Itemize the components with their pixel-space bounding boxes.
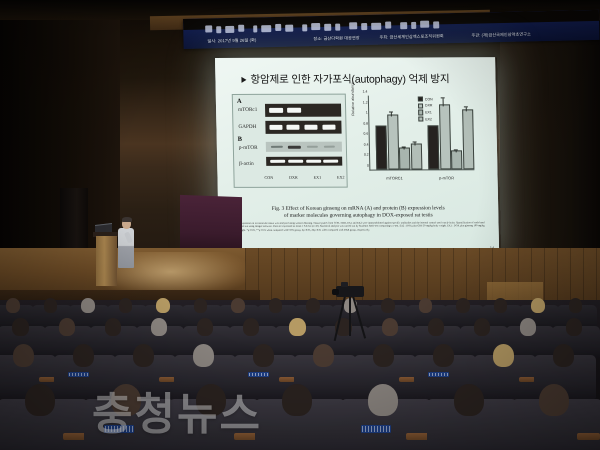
legend-label: DXR [425, 104, 432, 108]
audience-head [13, 344, 34, 367]
audience-head [474, 318, 490, 336]
seat-armrest [39, 377, 55, 381]
seat-armrest [63, 433, 86, 440]
chart-legend-item: EX1 [418, 110, 433, 115]
slide-heading: 항암제로 인한 자가포식(autophagy) 억제 방지 [241, 71, 481, 87]
video-camera-body [336, 286, 364, 297]
audience-head [306, 298, 320, 313]
caption-fine-print: Protein expression in rat testicular tis… [232, 221, 484, 231]
audience-head [105, 318, 121, 336]
legend-swatch [418, 117, 424, 122]
chart-legend-item: CON [418, 96, 433, 101]
audience-head [419, 298, 433, 313]
audience-head [6, 298, 20, 313]
audience-head [381, 298, 395, 313]
legend-swatch [418, 96, 424, 101]
audience-head [368, 384, 398, 416]
audience-head [433, 344, 454, 367]
chart-y-tick: 1.2 [363, 100, 369, 104]
bar-chart: Relative abundance 00.20.40.60.811.21.4m… [352, 91, 484, 191]
legend-swatch [418, 110, 424, 115]
audience-head [569, 298, 583, 313]
figure: A mTORc1 GAPDH B p-mTOR β-actin [232, 91, 484, 202]
audience-head [456, 298, 470, 313]
audience-head [428, 318, 444, 336]
seat-armrest [577, 433, 600, 440]
video-camera-lens [332, 289, 339, 295]
chart-bar-group [375, 95, 420, 169]
audience-head [133, 344, 154, 367]
chart-y-tick: 0.8 [363, 121, 369, 125]
audience-head [194, 298, 208, 313]
gel-panel-a-label: A [237, 98, 242, 105]
banner-host: 주최: 금산세계인삼엑스포조직위원회 [379, 33, 443, 40]
bullet-triangle-icon [241, 76, 246, 82]
audience-head [269, 298, 283, 313]
banner-organizer: 주관: (재)금산국제인삼약초연구소 [471, 31, 531, 38]
audience-head [231, 298, 245, 313]
audience-head [313, 344, 334, 367]
projection-screen: 항암제로 인한 자가포식(autophagy) 억제 방지 A mTORc1 G… [215, 57, 499, 254]
lane-label-con: CON [264, 175, 273, 180]
audience-head [454, 384, 484, 416]
lane-label-ex2: EX2 [337, 175, 345, 180]
news-watermark: 충청뉴스 [92, 378, 262, 442]
chart-y-tick: 0 [367, 164, 370, 168]
seat-number-tag [248, 372, 269, 377]
audience-head [59, 318, 75, 336]
podium [96, 236, 117, 286]
audience-head [193, 344, 214, 367]
audience-seating [0, 300, 600, 450]
audience-head [25, 384, 55, 416]
chart-legend: CONDXREX1EX2 [418, 96, 433, 123]
legend-swatch [418, 103, 424, 108]
auditorium-photo: 일시: 2017년 9월 26일 (화) 장소: 금산다락원 대공연장 주최: … [0, 0, 600, 450]
chart-y-tick: 0.2 [364, 153, 370, 157]
chart-bar-group [427, 95, 472, 169]
gel-blot-panel: A mTORc1 GAPDH B p-mTOR β-actin [232, 94, 348, 188]
chart-y-tick: 1.4 [363, 90, 369, 94]
audience-head [493, 344, 514, 367]
chart-legend-item: EX2 [418, 116, 433, 121]
tripod-leg-center [349, 296, 351, 336]
audience-head [539, 384, 569, 416]
seat-armrest [519, 377, 535, 381]
seat-number-tag [68, 372, 89, 377]
blot-pmtor [266, 142, 342, 152]
audience-head [553, 344, 574, 367]
audience-head [373, 344, 394, 367]
gel-row-pmtor-label: p-mTOR [239, 145, 258, 151]
banner-venue: 장소: 금산다락원 대공연장 [313, 35, 359, 42]
legend-label: EX1 [425, 110, 432, 114]
lane-label-dxr: DXR [289, 175, 298, 180]
audience-head [156, 298, 170, 313]
gel-row-gapdh-label: GAPDH [238, 124, 256, 130]
chart-y-tick: 0.4 [364, 142, 370, 146]
blot-bactin [266, 157, 342, 166]
audience-head [531, 298, 545, 313]
audience-head [119, 298, 133, 313]
chart-y-tick: 0.6 [363, 132, 369, 136]
audience-head [12, 318, 28, 336]
chart-y-tick: 1 [366, 111, 369, 115]
caption-line-2: of marker molecules governing autophagy … [232, 212, 484, 220]
audience-head [44, 298, 58, 313]
seat-number-tag [428, 372, 449, 377]
chart-legend-item: DXR [418, 103, 433, 108]
audience-head [282, 384, 312, 416]
audience-head [253, 344, 274, 367]
audience-head [197, 318, 213, 336]
audience-head [520, 318, 536, 336]
chart-x-tick-label: p-mTOR [419, 175, 475, 180]
gel-row-bactin-label: β-actin [239, 161, 254, 167]
gel-row-mtorc1-label: mTORc1 [238, 107, 257, 113]
chart-x-tick-label: mTORC1 [366, 175, 422, 180]
video-camera-handle [341, 282, 348, 287]
seat-armrest [406, 433, 429, 440]
seat-number-tag [361, 425, 392, 432]
audience-head [494, 298, 508, 313]
projected-slide: 항암제로 인한 자가포식(autophagy) 억제 방지 A mTORc1 G… [215, 57, 499, 254]
banner-schedule: 일시: 2017년 9월 26일 (화) [207, 37, 256, 44]
blot-gapdh [265, 121, 341, 134]
gel-lane-labels: CON DXR EX1 EX2 [264, 175, 344, 180]
audience-head [243, 318, 259, 336]
audience-head [566, 318, 582, 336]
audience-head [73, 344, 94, 367]
legend-label: EX2 [425, 117, 432, 121]
audience-head [382, 318, 398, 336]
audience-head [151, 318, 167, 336]
presenter-hair [122, 217, 132, 222]
legend-label: CON [425, 97, 433, 101]
seat-armrest [399, 377, 415, 381]
gel-panel-b-label: B [238, 136, 242, 143]
figure-caption: Fig. 3 Effect of Korean ginseng on mRNA … [232, 205, 485, 231]
blot-mtorc1 [265, 104, 341, 117]
audience-head [81, 298, 95, 313]
audience-head [289, 318, 305, 336]
lane-label-ex1: EX1 [314, 175, 322, 180]
seat-armrest [279, 377, 295, 381]
